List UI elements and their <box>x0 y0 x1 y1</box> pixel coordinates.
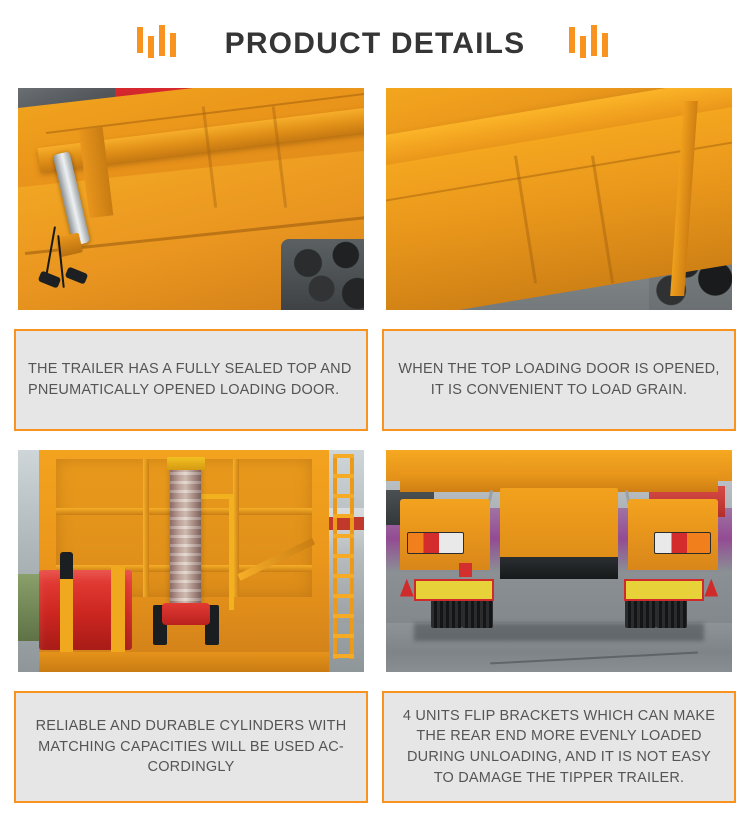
product-detail-item: THE TRAILER HAS A FULLY SEALED TOP AND P… <box>14 88 368 450</box>
product-detail-item: WHEN THE TOP LOADING DOOR IS OPENED, IT … <box>382 88 736 450</box>
page-header: PRODUCT DETAILS <box>0 0 750 88</box>
trailer-top-sealed-door-photo <box>18 88 364 310</box>
caption-text: RELIABLE AND DURABLE CYLINDERS WITH MATC… <box>28 716 354 778</box>
hydraulic-cylinder-photo <box>18 450 364 672</box>
top-loading-door-opened-photo <box>386 88 732 310</box>
caption-text: 4 UNITS FLIP BRACKETS WHICH CAN MAKE THE… <box>396 706 722 788</box>
product-detail-item: 4 UNITS FLIP BRACKETS WHICH CAN MAKE THE… <box>382 450 736 822</box>
rear-flip-brackets-photo <box>386 450 732 672</box>
caption-box: WHEN THE TOP LOADING DOOR IS OPENED, IT … <box>382 329 736 431</box>
page-title: PRODUCT DETAILS <box>225 27 526 61</box>
product-details-grid: THE TRAILER HAS A FULLY SEALED TOP AND P… <box>0 88 750 822</box>
caption-text: THE TRAILER HAS A FULLY SEALED TOP AND P… <box>28 359 354 400</box>
orange-bars-icon-left <box>137 25 181 63</box>
caption-box: THE TRAILER HAS A FULLY SEALED TOP AND P… <box>14 329 368 431</box>
caption-box: RELIABLE AND DURABLE CYLINDERS WITH MATC… <box>14 691 368 803</box>
orange-bars-icon-right <box>569 25 613 63</box>
caption-text: WHEN THE TOP LOADING DOOR IS OPENED, IT … <box>396 359 722 400</box>
product-detail-item: RELIABLE AND DURABLE CYLINDERS WITH MATC… <box>14 450 368 822</box>
caption-box: 4 UNITS FLIP BRACKETS WHICH CAN MAKE THE… <box>382 691 736 803</box>
